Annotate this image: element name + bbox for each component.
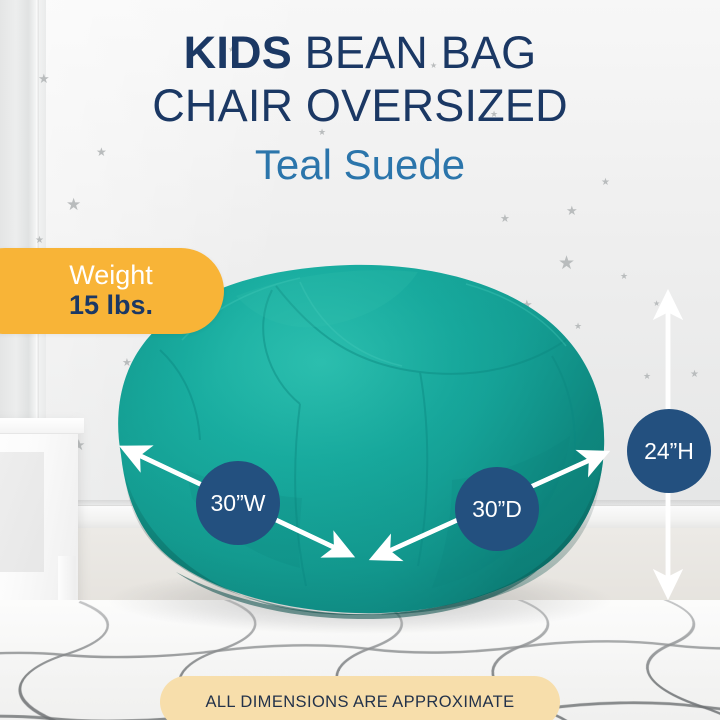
product-infographic: ★ ★ ★ ★ ★ ★ ★ ★ ★ ★ ★ ★ ★ ★ ★ ★ ★ ★ ★ ★ … — [0, 0, 720, 720]
weight-badge: Weight 15 lbs. — [0, 248, 224, 334]
heading-block: KIDS BEAN BAG CHAIR OVERSIZED Teal Suede — [0, 26, 720, 190]
product-subtitle: Teal Suede — [0, 140, 720, 190]
page-title-line-1: KIDS BEAN BAG — [0, 26, 720, 79]
page-title-line-2: CHAIR OVERSIZED — [0, 79, 720, 132]
disclaimer-banner: ALL DIMENSIONS ARE APPROXIMATE — [160, 676, 560, 720]
title-rest: BEAN BAG — [292, 27, 536, 78]
title-emphasis: KIDS — [184, 27, 292, 78]
disclaimer-text: ALL DIMENSIONS ARE APPROXIMATE — [205, 693, 514, 712]
weight-badge-value: 15 lbs. — [69, 290, 153, 321]
weight-badge-label: Weight — [69, 261, 153, 290]
